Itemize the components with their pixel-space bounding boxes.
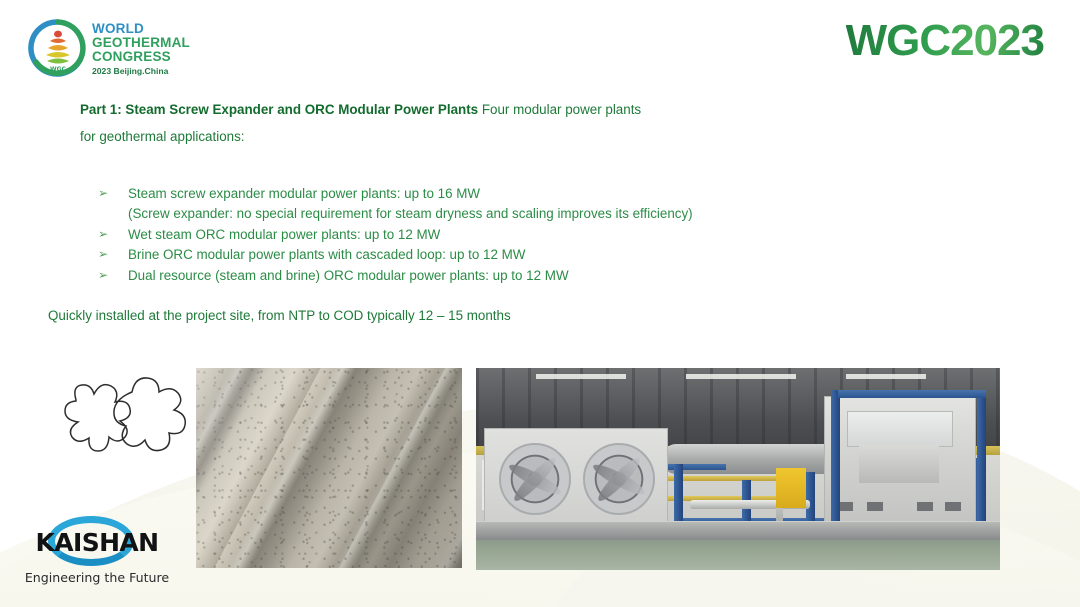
kaishan-brand-name: KAISHAN — [22, 528, 172, 557]
condenser-fan — [583, 443, 655, 515]
wgc-logo-mark-icon: WGC — [28, 18, 88, 78]
wgc-logo-line-4: 2023 Beijing.China — [92, 66, 204, 76]
rotor-surface-shading — [196, 368, 462, 568]
list-item: ➢ Dual resource (steam and brine) ORC mo… — [98, 266, 958, 286]
condenser-fan — [499, 443, 571, 515]
list-item-sub-label: (Screw expander: no special requirement … — [98, 204, 958, 224]
turbine-generator-enclosure — [824, 396, 976, 524]
blue-gantry-leg — [977, 390, 986, 540]
list-item: ➢ Brine ORC modular power plants with ca… — [98, 245, 958, 265]
installation-note: Quickly installed at the project site, f… — [48, 308, 511, 323]
list-item-label: Steam screw expander modular power plant… — [128, 184, 958, 204]
air-cooled-condenser — [484, 428, 668, 524]
list-item-label: Brine ORC modular power plants with casc… — [128, 245, 958, 265]
blue-gantry-beam — [838, 390, 986, 398]
rotor-closeup-photo — [196, 368, 462, 568]
enclosure-top-module — [847, 411, 953, 447]
factory-floor — [476, 540, 1000, 570]
orc-plant-photo: Energy ek-chine — [476, 368, 1000, 570]
intro-line-2: for geothermal applications: — [80, 123, 960, 150]
kaishan-tagline: Engineering the Future — [22, 570, 172, 585]
wgc-logo-line-3: CONGRESS — [92, 50, 204, 64]
intro-rest: Four modular power plants — [478, 102, 641, 117]
list-item: ➢ Steam screw expander modular power pla… — [98, 184, 958, 204]
list-item-label: Dual resource (steam and brine) ORC modu… — [128, 266, 958, 286]
bullet-arrow-icon: ➢ — [98, 225, 128, 244]
enclosure-mid-module — [859, 445, 939, 483]
enclosure-vent — [867, 502, 883, 511]
enclosure-vent — [945, 502, 961, 511]
svg-text:WGC: WGC — [50, 66, 67, 73]
yellow-tank — [776, 468, 806, 508]
wgc-congress-logo: WGC WORLD GEOTHERMAL CONGRESS 2023 Beiji… — [28, 16, 206, 80]
fan-hub — [612, 472, 626, 486]
kaishan-logo: KAISHAN Engineering the Future — [22, 516, 172, 592]
list-item: ➢ Wet steam ORC modular power plants: up… — [98, 225, 958, 245]
enclosure-vent — [917, 502, 933, 511]
bullet-arrow-icon: ➢ — [98, 184, 128, 203]
wgc-logo-text: WORLD GEOTHERMAL CONGRESS 2023 Beijing.C… — [92, 22, 204, 76]
bullet-arrow-icon: ➢ — [98, 266, 128, 285]
page-title: WGC2023 — [846, 16, 1044, 66]
fan-hub — [528, 472, 542, 486]
wgc-logo-line-2: GEOTHERMAL — [92, 36, 204, 50]
intro-paragraph: Part 1: Steam Screw Expander and ORC Mod… — [80, 96, 960, 151]
rotor-profile-diagram-icon — [32, 372, 192, 480]
list-item-label: Wet steam ORC modular power plants: up t… — [128, 225, 958, 245]
ceiling-light — [846, 374, 926, 379]
bullet-arrow-icon: ➢ — [98, 245, 128, 264]
wgc-logo-line-1: WORLD — [92, 22, 204, 36]
plant-scene: Energy ek-chine — [476, 368, 1000, 570]
ceiling-light — [686, 374, 796, 379]
intro-bold-lead: Part 1: Steam Screw Expander and ORC Mod… — [80, 102, 478, 117]
ceiling-light — [536, 374, 626, 379]
bullet-list: ➢ Steam screw expander modular power pla… — [98, 184, 958, 286]
blue-gantry-leg — [831, 390, 840, 540]
presentation-slide: WGC WORLD GEOTHERMAL CONGRESS 2023 Beiji… — [0, 0, 1080, 607]
